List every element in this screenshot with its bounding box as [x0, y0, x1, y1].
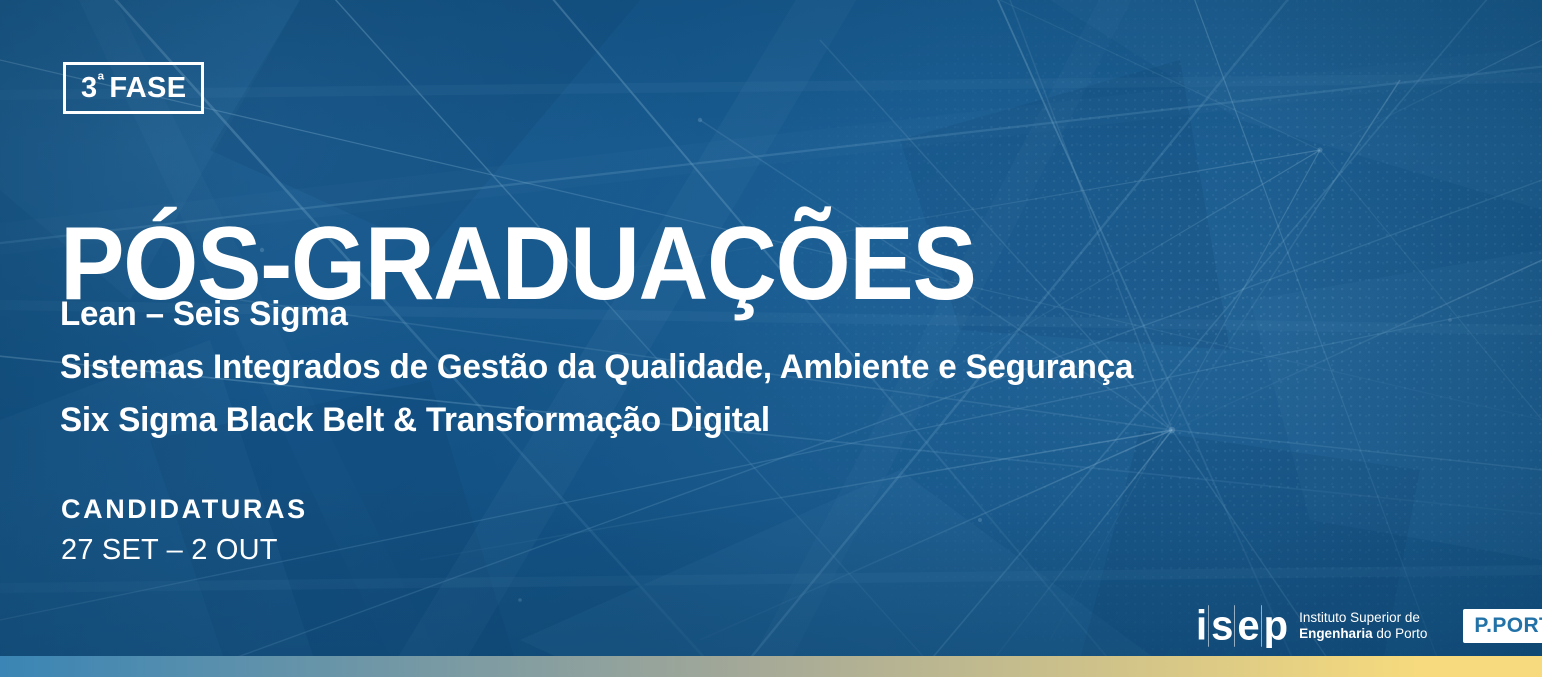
isep-logo: i s e p Instituto Superior de Engenharia… — [1196, 606, 1427, 646]
isep-subtitle-line2-bold: Engenharia — [1299, 626, 1373, 641]
isep-wordmark-letter: e — [1235, 605, 1261, 647]
promotional-banner: 3ªFASE PÓS-GRADUAÇÕES Lean – Seis Sigma … — [0, 0, 1542, 677]
phase-badge-ordinal: ª — [97, 70, 104, 90]
pporto-logo: P.PORTO — [1463, 609, 1542, 643]
isep-wordmark-letter: p — [1262, 605, 1289, 647]
course-list: Lean – Seis Sigma Sistemas Integrados de… — [60, 288, 1133, 447]
applications-dates: 27 SET – 2 OUT — [61, 536, 308, 565]
isep-wordmark-letter: i — [1196, 605, 1209, 647]
isep-subtitle-line2-rest: do Porto — [1373, 626, 1428, 641]
applications-block: CANDIDATURAS 27 SET – 2 OUT — [61, 496, 308, 565]
logo-group: i s e p Instituto Superior de Engenharia… — [1196, 604, 1542, 648]
isep-wordmark-letter: s — [1209, 605, 1235, 647]
bottom-gradient-bar — [0, 656, 1542, 677]
phase-badge-label: FASE — [109, 72, 186, 104]
phase-badge-number: 3 — [81, 72, 97, 104]
course-list-item: Six Sigma Black Belt & Transformação Dig… — [60, 394, 1133, 447]
course-list-item: Lean – Seis Sigma — [60, 288, 1133, 341]
isep-wordmark-icon: i s e p — [1196, 605, 1289, 647]
isep-subtitle-line2: Engenharia do Porto — [1299, 626, 1427, 642]
isep-logo-subtitle: Instituto Superior de Engenharia do Port… — [1299, 610, 1427, 642]
phase-badge: 3ªFASE — [63, 62, 204, 114]
course-list-item: Sistemas Integrados de Gestão da Qualida… — [60, 341, 1133, 394]
isep-subtitle-line1: Instituto Superior de — [1299, 610, 1427, 626]
applications-label: CANDIDATURAS — [61, 496, 308, 523]
